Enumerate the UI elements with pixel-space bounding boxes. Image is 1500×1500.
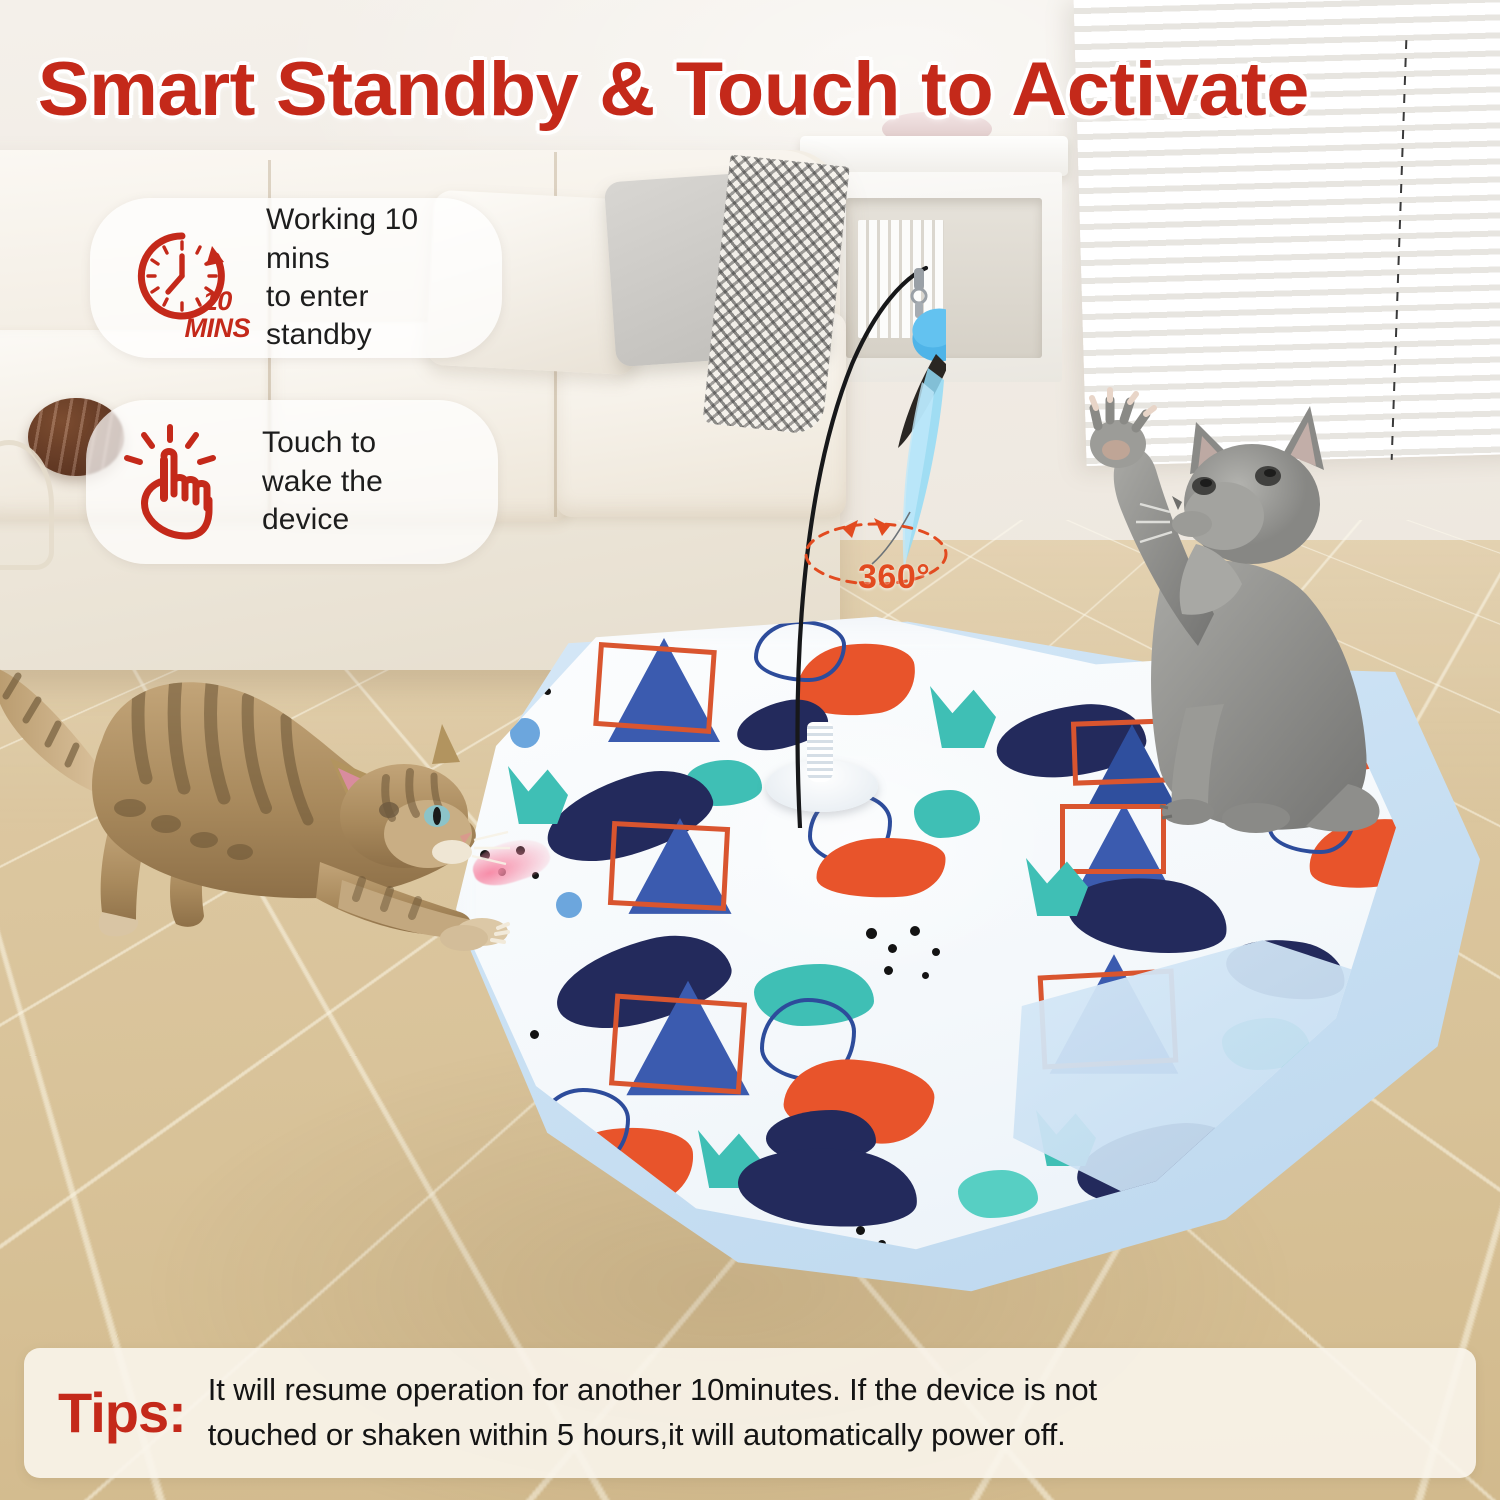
tips-label: Tips: [58,1385,186,1441]
tips-bar: Tips: It will resume operation for anoth… [24,1348,1476,1478]
interactive-cat-mat[interactable] [420,600,1480,1320]
clock-10-mins-icon: 10 MINS [116,218,248,338]
rotation-360-label: 360° [858,558,930,597]
touch-hand-icon [112,422,244,542]
mat-printed-surface [436,610,1436,1290]
product-infographic: 360° [0,0,1500,1500]
feature-badge-standby-text: Working 10 mins to enter standby [266,201,476,355]
page-title: Smart Standby & Touch to Activate [38,52,1486,128]
mat-wand-mount [807,722,833,782]
feature-badge-touch: Touch to wake the device [86,400,498,564]
feature-badge-touch-text: Touch to wake the device [262,424,472,539]
clock-icon-label: 10 MINS [185,288,251,342]
books [858,220,944,338]
feature-badge-standby: 10 MINS Working 10 mins to enter standby [90,198,502,358]
tips-text: It will resume operation for another 10m… [208,1368,1097,1458]
